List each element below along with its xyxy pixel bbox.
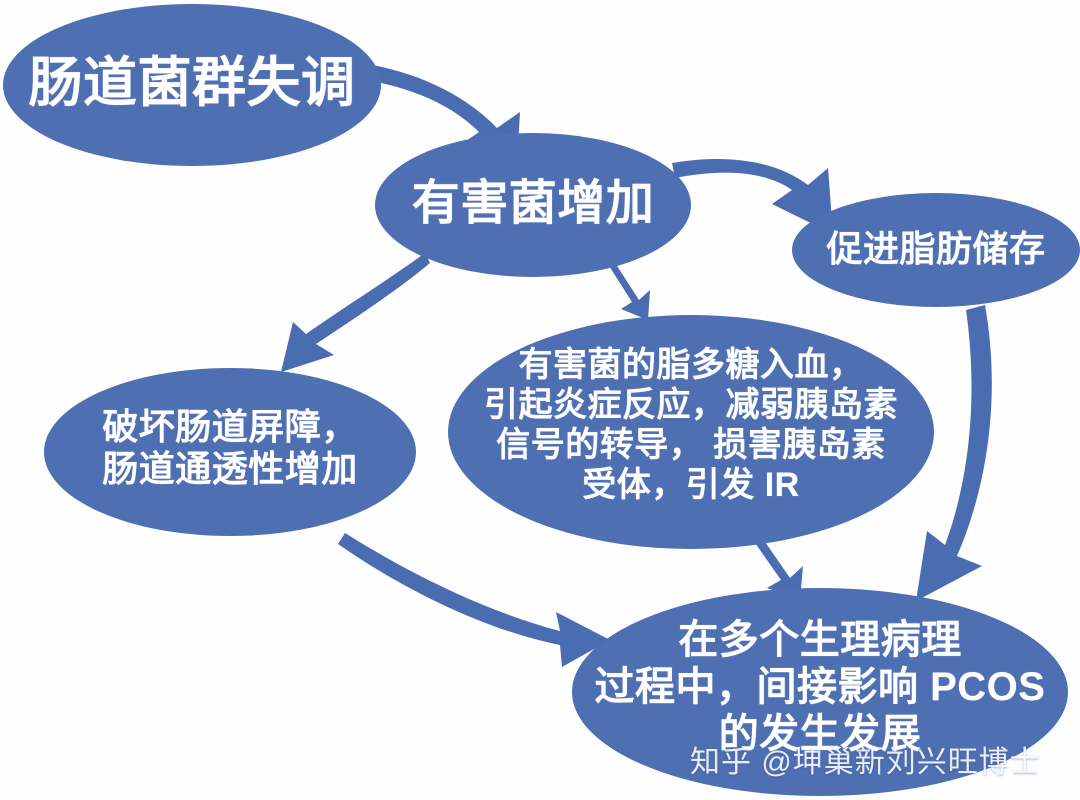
node-fat-storage[interactable] (792, 193, 1080, 307)
node-dysbiosis[interactable] (3, 4, 381, 166)
flowchart-graphic (0, 0, 1080, 800)
watermark-text: 知乎 @坤巢新刘兴旺博士 (690, 737, 1070, 781)
edge-harmful-to-fat (672, 159, 833, 234)
node-gut-barrier[interactable] (44, 368, 416, 536)
edge-barrier-to-pcos (338, 533, 610, 667)
edge-harmful-to-barrier (281, 253, 430, 372)
diagram-canvas: 肠道菌群失调 有害菌增加 促进脂肪储存 破坏肠道屏障， 肠道通透性增加 有害菌的… (0, 0, 1080, 800)
node-harmful-bacteria[interactable] (375, 133, 691, 277)
node-lps-inflammation[interactable] (448, 315, 934, 549)
